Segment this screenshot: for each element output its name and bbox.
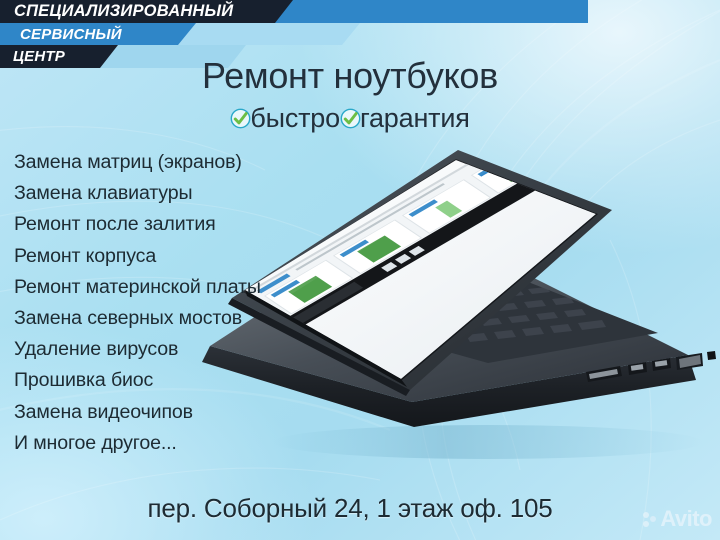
- ribbon-accent-2: [170, 23, 360, 45]
- avito-watermark: Avito: [643, 506, 712, 532]
- ribbon-specialized: СПЕЦИАЛИЗИРОВАННЫЙ: [0, 0, 293, 23]
- list-item: Замена клавиатуры: [14, 178, 354, 209]
- list-item: Ремонт корпуса: [14, 241, 354, 272]
- ribbon-service: СЕРВИСНЫЙ: [0, 23, 196, 45]
- list-item: Замена видеочипов: [14, 397, 354, 428]
- ribbon-service-label: СЕРВИСНЫЙ: [0, 26, 122, 43]
- check-circle-icon: [230, 108, 251, 129]
- page-title: Ремонт ноутбуков: [150, 55, 550, 97]
- list-item: Прошивка биос: [14, 365, 354, 396]
- benefit-label-warranty: гарантия: [360, 103, 470, 134]
- list-item: Удаление вирусов: [14, 334, 354, 365]
- avito-dots-icon: [643, 510, 657, 528]
- benefit-label-fast: быстро: [250, 103, 340, 134]
- ribbon-center-label: ЦЕНТР: [0, 48, 65, 65]
- list-item: И многое другое...: [14, 428, 354, 459]
- services-list: Замена матриц (экранов) Замена клавиатур…: [14, 147, 354, 459]
- list-item: Ремонт материнской платы: [14, 272, 354, 303]
- list-item: Замена северных мостов: [14, 303, 354, 334]
- benefits-row: быстро гарантия: [150, 103, 550, 134]
- poster: СПЕЦИАЛИЗИРОВАННЫЙ СЕРВИСНЫЙ ЦЕНТР Ремон…: [0, 0, 720, 540]
- avito-watermark-label: Avito: [660, 506, 712, 532]
- check-circle-icon: [340, 108, 361, 129]
- address-line: пер. Соборный 24, 1 этаж оф. 105: [0, 493, 700, 524]
- list-item: Замена матриц (экранов): [14, 147, 354, 178]
- ribbon-specialized-label: СПЕЦИАЛИЗИРОВАННЫЙ: [0, 2, 233, 21]
- ribbon-center: ЦЕНТР: [0, 45, 118, 68]
- list-item: Ремонт после залития: [14, 209, 354, 240]
- ribbon-accent-1: [268, 0, 588, 23]
